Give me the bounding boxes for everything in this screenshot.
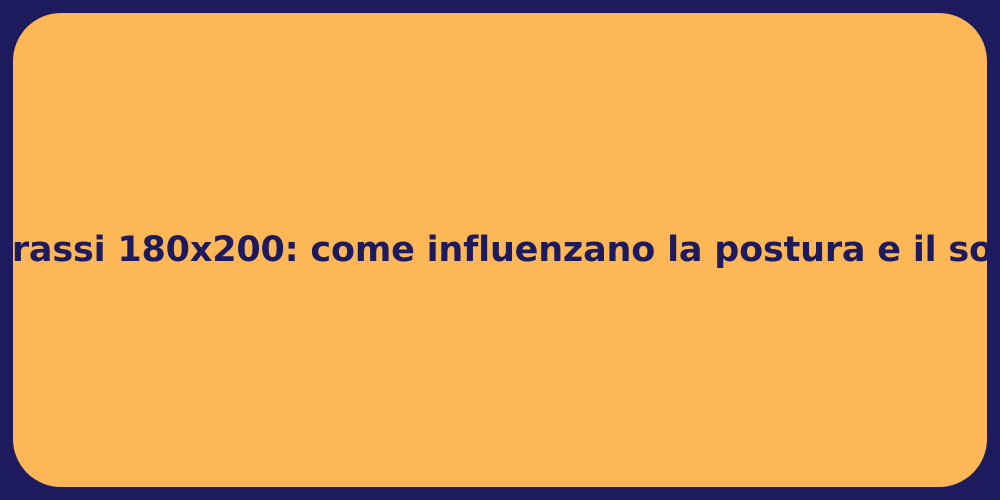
banner-panel: Materassi 180x200: come influenzano la p… — [13, 13, 987, 487]
page-title: Materassi 180x200: come influenzano la p… — [0, 229, 1000, 272]
banner-card: Materassi 180x200: come influenzano la p… — [0, 0, 1000, 500]
